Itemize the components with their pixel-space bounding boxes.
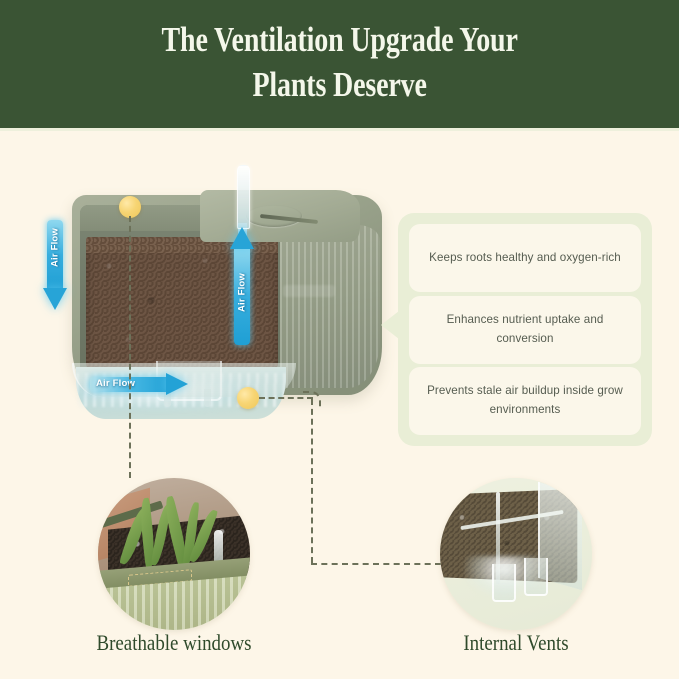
caption-internal-vents: Internal Vents xyxy=(413,630,619,656)
photo-internal-vents xyxy=(440,478,592,630)
feature-card: Keeps roots healthy and oxygen-rich xyxy=(409,224,641,292)
airflow-arrowhead-icon xyxy=(230,227,254,249)
airflow-arrowhead-icon xyxy=(166,373,188,395)
photo-breathable-windows xyxy=(98,478,250,630)
infographic-page: The Ventilation Upgrade Your Plants Dese… xyxy=(0,0,679,679)
airflow-label: Air Flow xyxy=(50,225,61,271)
feature-card-text: Enhances nutrient uptake and conversion xyxy=(425,311,625,349)
callout-dot-internal-vents xyxy=(237,387,259,409)
airflow-label: Air Flow xyxy=(237,270,248,316)
photo-vent-leg xyxy=(492,564,516,602)
product-illustration: Air Flow Air Flow Air Flow xyxy=(28,165,398,430)
feature-card: Prevents stale air buildup inside grow e… xyxy=(409,367,641,435)
photo-vent-leg xyxy=(524,558,548,596)
feature-panel: Keeps roots healthy and oxygen-rich Enha… xyxy=(398,213,652,446)
airflow-arrow-bottom: Air Flow xyxy=(90,373,188,395)
airflow-arrowhead-icon xyxy=(43,288,67,310)
caption-breathable-windows: Breathable windows xyxy=(71,630,277,656)
leader-line-vents-bottom xyxy=(311,563,441,565)
planter-logo-emboss xyxy=(283,285,335,297)
header-banner: The Ventilation Upgrade Your Plants Dese… xyxy=(0,0,679,128)
header-divider xyxy=(0,128,679,131)
airflow-arrow-right: Air Flow xyxy=(231,227,253,345)
airflow-arrow-left: Air Flow xyxy=(44,220,66,312)
leader-line-vents-vertical xyxy=(311,399,313,563)
feature-panel-pointer xyxy=(381,311,399,339)
feature-card-text: Prevents stale air buildup inside grow e… xyxy=(425,382,625,420)
feature-card: Enhances nutrient uptake and conversion xyxy=(409,296,641,364)
feature-card-text: Keeps roots healthy and oxygen-rich xyxy=(429,249,621,268)
leader-line-breathable-windows xyxy=(129,216,131,478)
water-level-gauge xyxy=(237,165,250,229)
page-title: The Ventilation Upgrade Your Plants Dese… xyxy=(161,17,517,108)
callout-dot-breathable-windows xyxy=(119,196,141,218)
